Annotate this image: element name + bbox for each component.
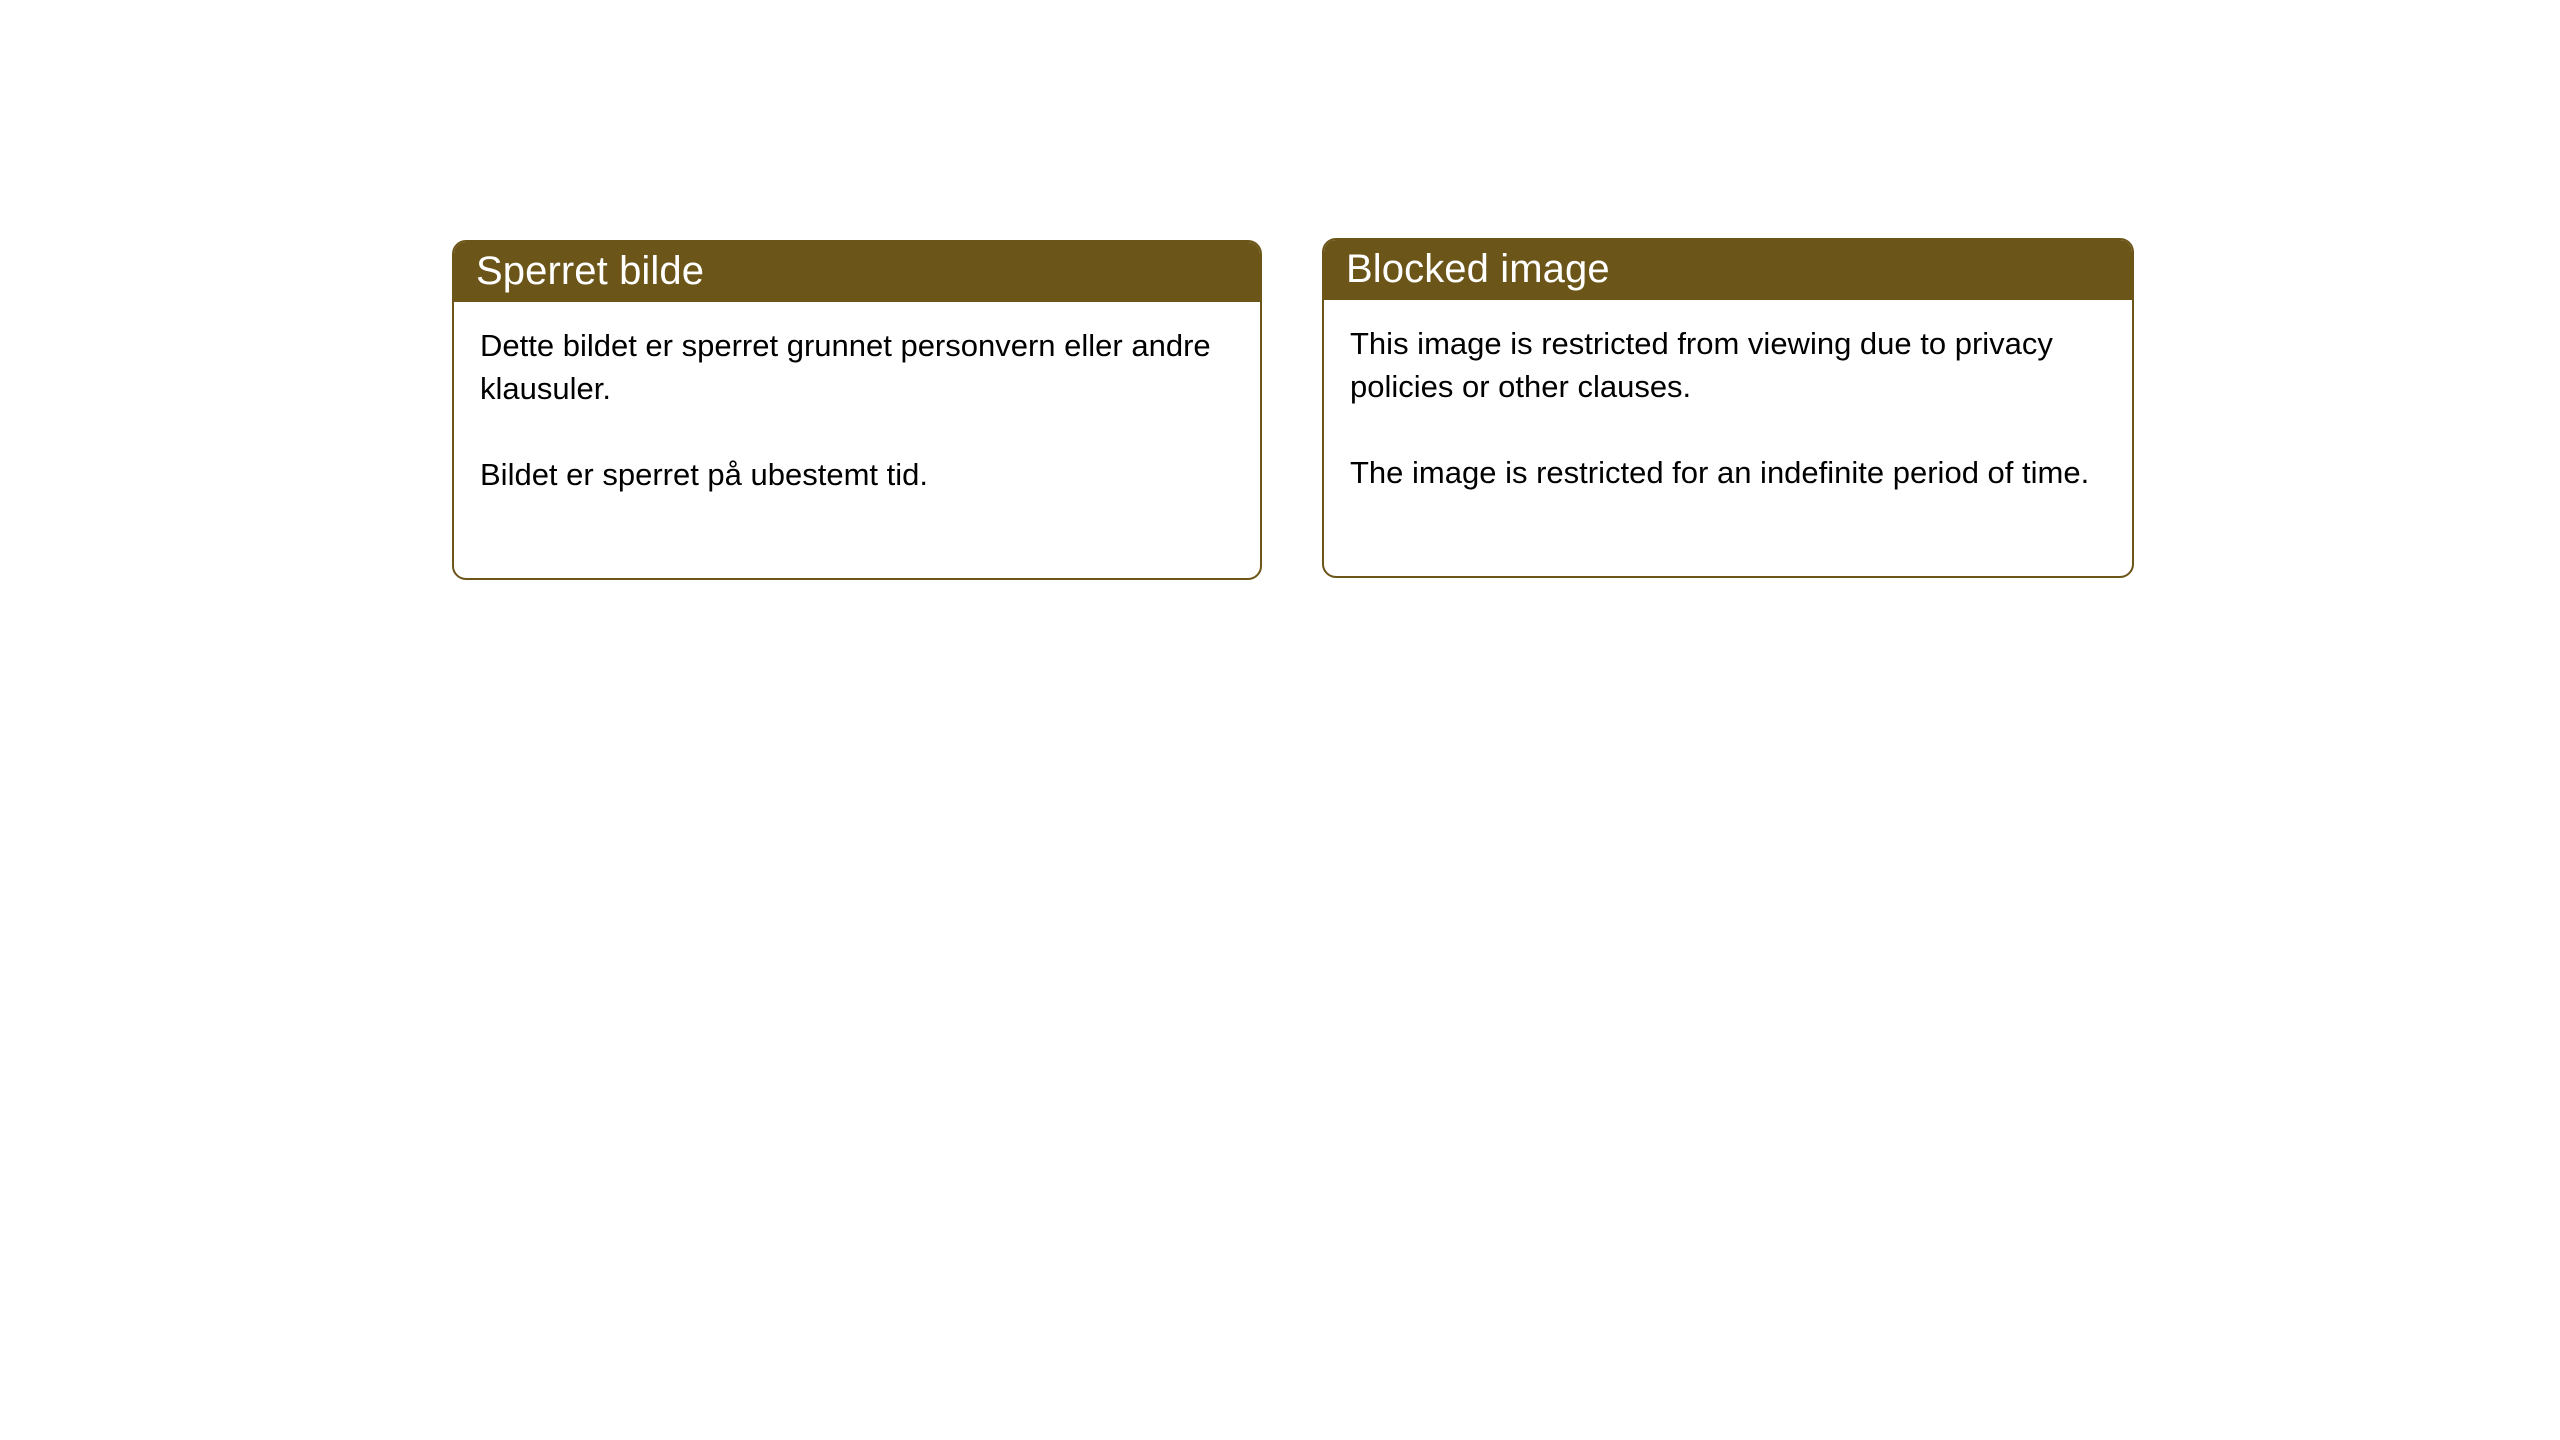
paragraph-spacer bbox=[1350, 408, 2106, 451]
blocked-image-notice-card-norwegian: Sperret bilde Dette bildet er sperret gr… bbox=[452, 240, 1262, 580]
blocked-image-notice-card-english: Blocked image This image is restricted f… bbox=[1322, 238, 2134, 578]
card-title-norwegian: Sperret bilde bbox=[476, 251, 704, 291]
card-body-norwegian: Dette bildet er sperret grunnet personve… bbox=[454, 302, 1260, 516]
paragraph-spacer bbox=[480, 410, 1234, 453]
page-canvas: Sperret bilde Dette bildet er sperret gr… bbox=[0, 0, 2560, 1440]
card-paragraph-primary-norwegian: Dette bildet er sperret grunnet personve… bbox=[480, 324, 1234, 410]
card-header-english: Blocked image bbox=[1322, 238, 2134, 300]
card-paragraph-secondary-norwegian: Bildet er sperret på ubestemt tid. bbox=[480, 453, 1234, 496]
card-paragraph-primary-english: This image is restricted from viewing du… bbox=[1350, 322, 2106, 408]
card-header-norwegian: Sperret bilde bbox=[452, 240, 1262, 302]
card-paragraph-secondary-english: The image is restricted for an indefinit… bbox=[1350, 451, 2106, 494]
card-body-english: This image is restricted from viewing du… bbox=[1324, 300, 2132, 514]
card-title-english: Blocked image bbox=[1346, 249, 1610, 289]
